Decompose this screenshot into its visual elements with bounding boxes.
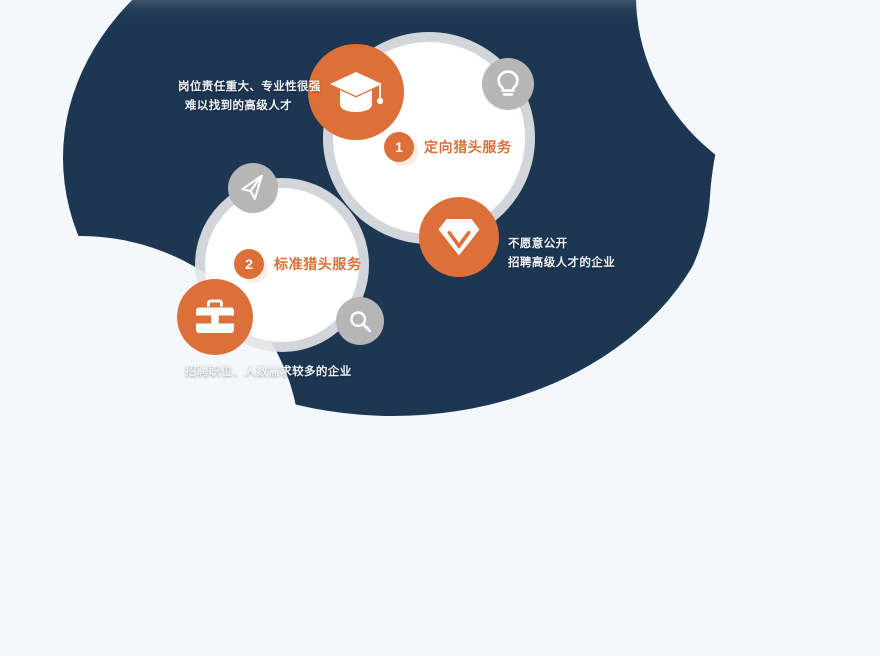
caption-top-left: 岗位责任重大、专业性很强 难以找到的高级人才 (178, 78, 292, 116)
blob-mask-bottom (0, 416, 880, 480)
service-title-2: 标准猎头服务 (274, 254, 362, 274)
lightbulb-icon[interactable] (482, 58, 534, 110)
caption-middle-right-line2: 招聘高级人才的企业 (508, 254, 615, 273)
service-number-2: 2 (234, 249, 264, 279)
service-number-1-wrapper: 1 (384, 132, 414, 162)
briefcase-icon[interactable] (177, 279, 253, 355)
service-title-1: 定向猎头服务 (424, 137, 512, 157)
search-icon[interactable] (336, 297, 384, 345)
caption-bottom-left: 招聘职位、人数需求较多的企业 (185, 363, 352, 382)
service-label-1[interactable]: 1 定向猎头服务 (384, 132, 512, 162)
caption-top-left-line2: 难以找到的高级人才 (178, 97, 292, 116)
service-number-1: 1 (384, 132, 414, 162)
caption-middle-right: 不愿意公开 招聘高级人才的企业 (508, 235, 615, 273)
caption-top-left-line1: 岗位责任重大、专业性很强 (178, 78, 292, 97)
service-label-2[interactable]: 2 标准猎头服务 (234, 249, 362, 279)
graduation-cap-icon[interactable] (308, 44, 404, 140)
hero-banner: 1 定向猎头服务 2 标准猎头服务 岗位责任重大、专业性很强 难以找到的高级人才… (0, 0, 880, 480)
caption-bottom-left-line1: 招聘职位、人数需求较多的企业 (185, 363, 352, 382)
blob-mask-left (0, 0, 62, 480)
service-number-2-wrapper: 2 (234, 249, 264, 279)
paper-plane-icon[interactable] (228, 163, 278, 213)
gem-icon[interactable] (419, 197, 499, 277)
caption-middle-right-line1: 不愿意公开 (508, 235, 615, 254)
